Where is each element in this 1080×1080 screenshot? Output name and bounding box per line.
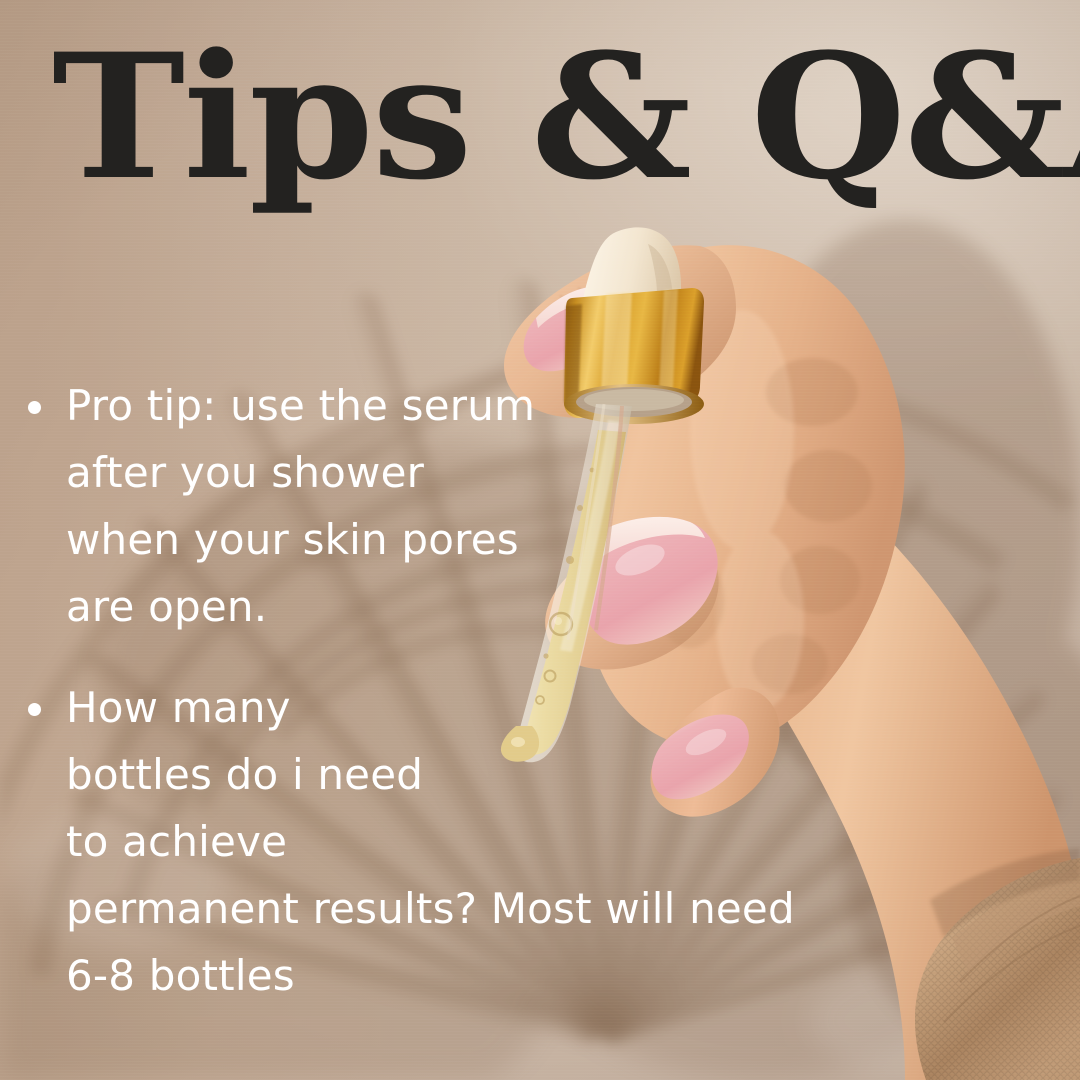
bullet-dot-icon — [28, 401, 41, 414]
page-title: Tips & Q&A — [52, 38, 1080, 196]
bullet-line: when your skin pores — [66, 506, 918, 573]
bullet-line: How many — [66, 674, 918, 741]
bullet-line: are open. — [66, 573, 918, 640]
bullet-line: bottles do i need — [66, 741, 918, 808]
bullet-line: 6-8 bottles — [66, 942, 918, 1009]
poster-canvas: Tips & Q&A — [0, 0, 1080, 1080]
bullet-line: to achieve — [66, 808, 918, 875]
bullet-dot-icon — [28, 703, 41, 716]
bullet-item-how-many-bottles: How many bottles do i need to achieve pe… — [18, 674, 918, 1009]
bullet-line: after you shower — [66, 439, 918, 506]
body-copy: Pro tip: use the serum after you shower … — [18, 372, 918, 1009]
bullet-line: Pro tip: use the serum — [66, 372, 918, 439]
bullet-item-pro-tip: Pro tip: use the serum after you shower … — [18, 372, 918, 640]
bullet-line: permanent results? Most will need — [66, 875, 918, 942]
